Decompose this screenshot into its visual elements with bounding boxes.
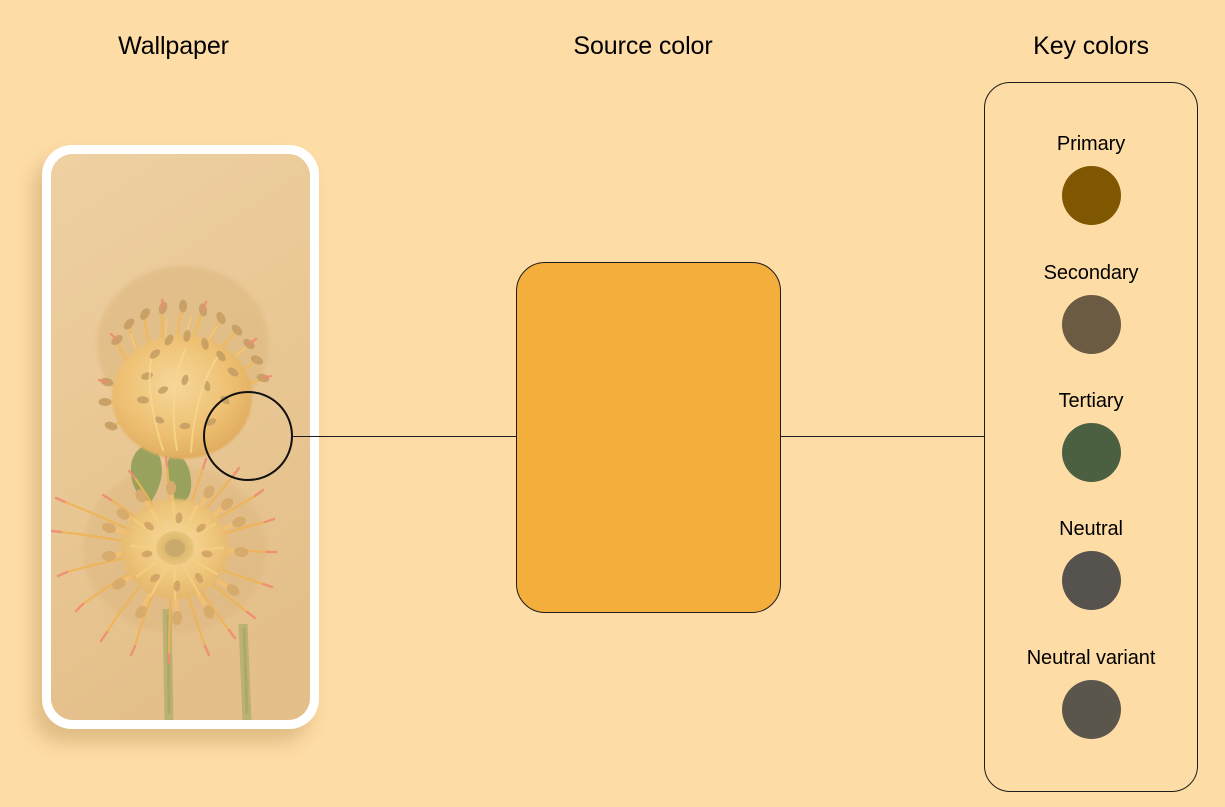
key-color-dot-neutral-variant (1062, 680, 1121, 739)
key-color-dot-primary (1062, 166, 1121, 225)
key-color-label-secondary: Secondary (1044, 262, 1139, 285)
page-title-wallpaper: Wallpaper (0, 32, 347, 61)
key-color-item-secondary: Secondary (1044, 262, 1139, 354)
key-color-label-neutral-variant: Neutral variant (1027, 647, 1156, 670)
key-color-dot-neutral (1062, 551, 1121, 610)
key-color-dot-secondary (1062, 295, 1121, 354)
key-color-item-tertiary: Tertiary (1059, 390, 1124, 482)
page-title-source-color: Source color (468, 32, 818, 61)
key-colors-panel: Primary Secondary Tertiary Neutral Neutr… (984, 82, 1198, 792)
key-color-label-tertiary: Tertiary (1059, 390, 1124, 413)
page-title-key-colors: Key colors (984, 32, 1198, 61)
key-color-item-primary: Primary (1057, 133, 1125, 225)
source-color-swatch (516, 262, 781, 613)
connector-line-wallpaper-to-source (292, 436, 517, 437)
wallpaper-sample-circle (203, 391, 293, 481)
key-color-item-neutral-variant: Neutral variant (1027, 647, 1156, 739)
key-color-label-neutral: Neutral (1059, 518, 1123, 541)
key-color-item-neutral: Neutral (1059, 518, 1123, 610)
key-color-dot-tertiary (1062, 423, 1121, 482)
key-color-label-primary: Primary (1057, 133, 1125, 156)
connector-line-source-to-key-colors (780, 436, 985, 437)
